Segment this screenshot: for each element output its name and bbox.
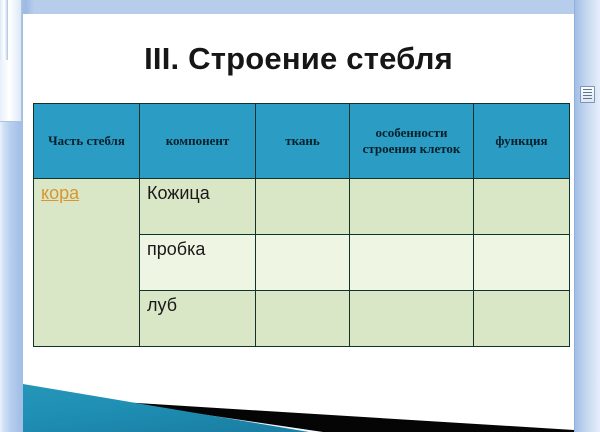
slide-canvas: III. Строение стебля Часть стебля компон…	[23, 14, 574, 432]
title-area: III. Строение стебля	[23, 14, 574, 103]
cell-component[interactable]: пробка	[140, 235, 256, 291]
cell-function[interactable]	[474, 179, 570, 235]
widget-line	[583, 95, 592, 96]
widget-line	[583, 89, 592, 90]
cell-features[interactable]	[350, 235, 474, 291]
column-header-features: особенности строения клеток	[350, 104, 474, 179]
cell-tissue[interactable]	[256, 235, 350, 291]
table-row: кора Кожица	[34, 179, 570, 235]
cell-features[interactable]	[350, 291, 474, 347]
column-header-tissue: ткань	[256, 104, 350, 179]
left-chrome-rail	[0, 0, 8, 60]
cell-component[interactable]: Кожица	[140, 179, 256, 235]
footer-decoration	[23, 370, 574, 432]
cell-function[interactable]	[474, 291, 570, 347]
cell-component[interactable]: луб	[140, 291, 256, 347]
stem-structure-table: Часть стебля компонент ткань особенности…	[33, 103, 570, 347]
cell-function[interactable]	[474, 235, 570, 291]
table-header-row: Часть стебля компонент ткань особенности…	[34, 104, 570, 179]
list-widget-icon[interactable]	[580, 86, 595, 103]
column-header-component: компонент	[140, 104, 256, 179]
right-chrome-pane	[574, 0, 600, 432]
cell-tissue[interactable]	[256, 291, 350, 347]
widget-line	[583, 92, 592, 93]
column-header-part: Часть стебля	[34, 104, 140, 179]
part-cell-kora: кора	[34, 179, 140, 347]
cell-tissue[interactable]	[256, 179, 350, 235]
cell-features[interactable]	[350, 179, 474, 235]
presentation-viewer: III. Строение стебля Часть стебля компон…	[0, 0, 600, 432]
page-title: III. Строение стебля	[144, 43, 453, 74]
column-header-function: функция	[474, 104, 570, 179]
kora-hyperlink[interactable]: кора	[41, 183, 79, 203]
diagonal-wedge-graphic	[23, 370, 574, 432]
widget-line	[583, 98, 592, 99]
